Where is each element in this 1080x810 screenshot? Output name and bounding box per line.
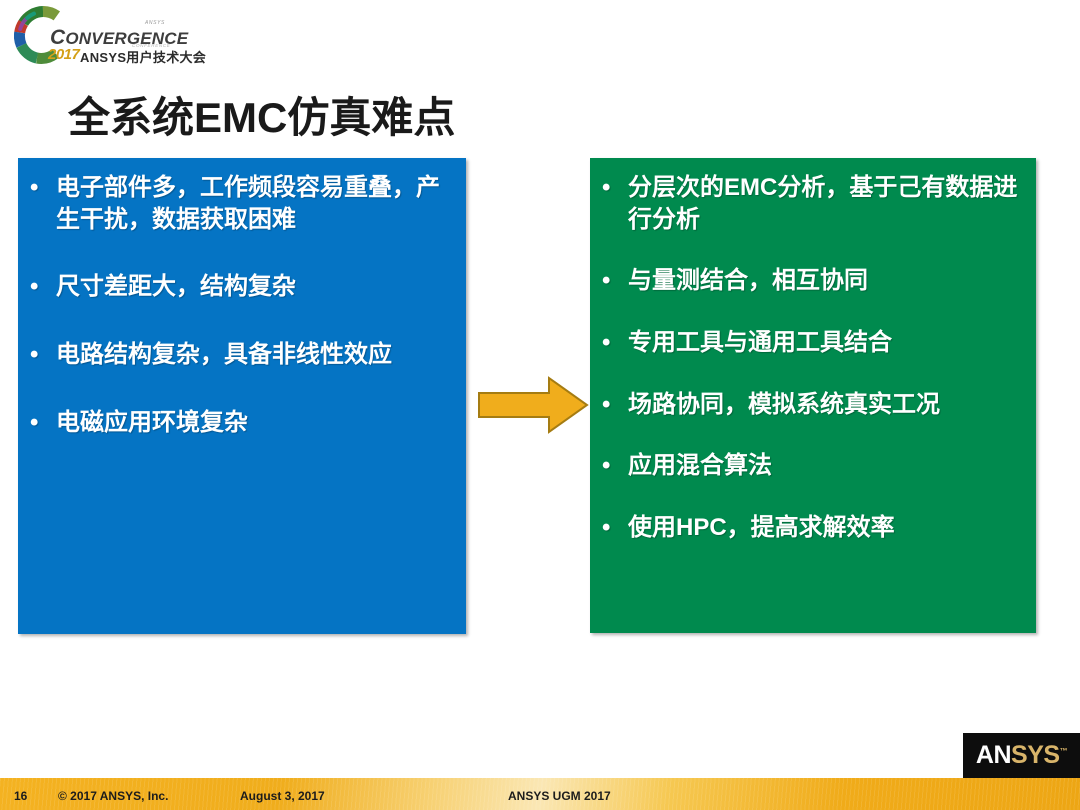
list-item: • 场路协同，模拟系统真实工况 xyxy=(602,389,1024,421)
bullet-dot-icon: • xyxy=(30,172,56,204)
list-item: • 与量测结合，相互协同 xyxy=(602,265,1024,297)
list-item-text: 场路协同，模拟系统真实工况 xyxy=(628,389,1024,421)
slide-canvas: CONVERGENCE ANSYS CONFERENCE 2017 ANSYS用… xyxy=(0,0,1080,810)
ansys-logo-part1: AN xyxy=(976,741,1011,769)
right-arrow-icon xyxy=(477,374,589,436)
list-item: • 分层次的EMC分析，基于己有数据进行分析 xyxy=(602,172,1024,235)
solutions-panel: • 分层次的EMC分析，基于己有数据进行分析 • 与量测结合，相互协同 • 专用… xyxy=(590,158,1036,633)
convergence-logo: CONVERGENCE ANSYS CONFERENCE 2017 ANSYS用… xyxy=(12,4,212,66)
list-item-text: 电子部件多，工作频段容易重叠，产生干扰，数据获取困难 xyxy=(56,172,454,235)
challenges-bullet-list: • 电子部件多，工作频段容易重叠，产生干扰，数据获取困难 • 尺寸差距大，结构复… xyxy=(30,172,454,438)
trademark-icon: ™ xyxy=(1060,747,1068,756)
footer-copyright: © 2017 ANSYS, Inc. xyxy=(58,789,168,803)
convergence-chinese-subtitle: ANSYS用户技术大会 xyxy=(80,47,206,66)
list-item: • 应用混合算法 xyxy=(602,450,1024,482)
ansys-wordmark: ANSYS™ xyxy=(976,741,1067,770)
footer-page-number: 16 xyxy=(14,789,27,803)
bullet-dot-icon: • xyxy=(602,512,628,544)
list-item-text: 尺寸差距大，结构复杂 xyxy=(56,271,454,303)
list-item-text: 专用工具与通用工具结合 xyxy=(628,327,1024,359)
ansys-logo-part2: SYS xyxy=(1011,741,1060,769)
list-item-text: 使用HPC，提高求解效率 xyxy=(628,512,1024,544)
list-item: • 电磁应用环境复杂 xyxy=(30,407,454,439)
list-item: • 使用HPC，提高求解效率 xyxy=(602,512,1024,544)
bullet-dot-icon: • xyxy=(30,271,56,303)
list-item: • 尺寸差距大，结构复杂 xyxy=(30,271,454,303)
list-item-text: 分层次的EMC分析，基于己有数据进行分析 xyxy=(628,172,1024,235)
bullet-dot-icon: • xyxy=(602,265,628,297)
list-item: • 电路结构复杂，具备非线性效应 xyxy=(30,339,454,371)
list-item-text: 电磁应用环境复杂 xyxy=(56,407,454,439)
bullet-dot-icon: • xyxy=(602,327,628,359)
list-item: • 电子部件多，工作频段容易重叠，产生干扰，数据获取困难 xyxy=(30,172,454,235)
list-item: • 专用工具与通用工具结合 xyxy=(602,327,1024,359)
ansys-logo: ANSYS™ xyxy=(963,733,1080,778)
bullet-dot-icon: • xyxy=(30,407,56,439)
convergence-tagline-top: ANSYS xyxy=(145,20,165,26)
bullet-dot-icon: • xyxy=(602,450,628,482)
bullet-dot-icon: • xyxy=(30,339,56,371)
list-item-text: 与量测结合，相互协同 xyxy=(628,265,1024,297)
solutions-bullet-list: • 分层次的EMC分析，基于己有数据进行分析 • 与量测结合，相互协同 • 专用… xyxy=(602,172,1024,544)
bullet-dot-icon: • xyxy=(602,172,628,204)
convergence-year: 2017 xyxy=(48,46,79,63)
list-item-text: 电路结构复杂，具备非线性效应 xyxy=(56,339,454,371)
footer-event-name: ANSYS UGM 2017 xyxy=(508,789,611,803)
footer-date: August 3, 2017 xyxy=(240,789,325,803)
list-item-text: 应用混合算法 xyxy=(628,450,1024,482)
challenges-panel: • 电子部件多，工作频段容易重叠，产生干扰，数据获取困难 • 尺寸差距大，结构复… xyxy=(18,158,466,634)
bullet-dot-icon: • xyxy=(602,389,628,421)
page-title: 全系统EMC仿真难点 xyxy=(68,84,455,145)
